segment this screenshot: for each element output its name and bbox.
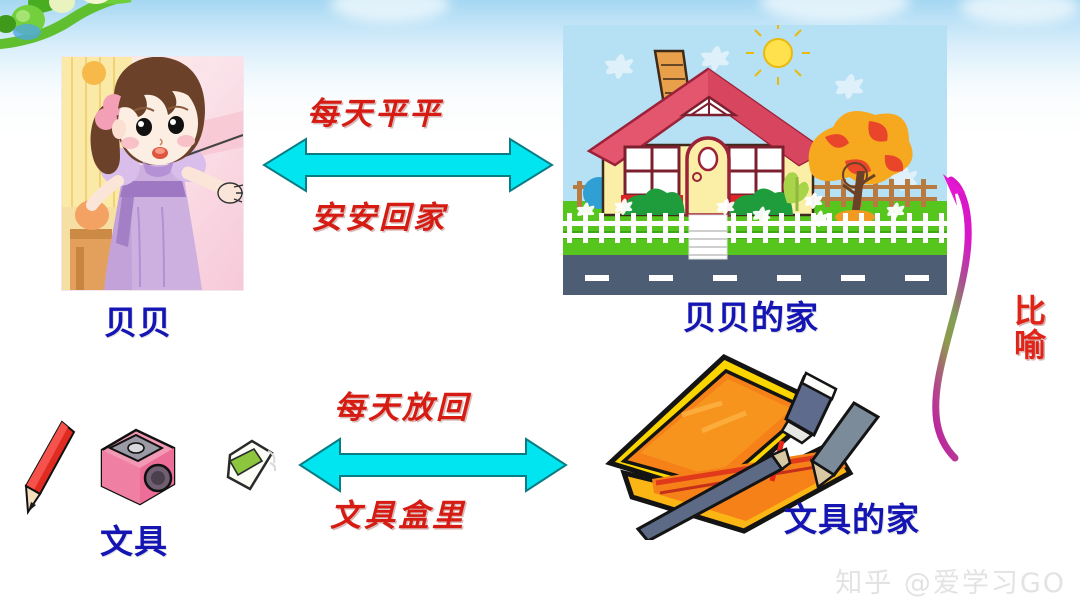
label-metaphor-char-1: 比	[1010, 295, 1050, 329]
label-beibei: 贝贝	[104, 306, 172, 339]
label-beibei-home: 贝贝的家	[683, 301, 819, 334]
label-metaphor: 比 喻	[1010, 295, 1050, 362]
pencil-sharpener-icon	[96, 424, 178, 510]
arrow-bottom-below-text: 文具盒里	[330, 501, 466, 532]
girl-pointing-illustration	[62, 57, 243, 290]
leaf-decoration-icon	[0, 0, 150, 50]
eraser-icon	[222, 437, 278, 495]
label-metaphor-char-2: 喻	[1010, 329, 1050, 363]
cloud-icon	[760, 0, 910, 22]
arrow-top-below-text: 安安回家	[311, 203, 447, 234]
slide-canvas: 贝贝 贝贝的家 文具 文具的家 每天平平 安安回家 每天放回 文具盒里 比 喻 …	[0, 0, 1080, 608]
double-headed-arrow-icon	[262, 133, 554, 197]
pencil-icon	[18, 420, 80, 515]
cloud-icon	[960, 0, 1080, 24]
arrow-top-above-text: 每天平平	[307, 99, 443, 130]
label-stationery-home: 文具的家	[784, 503, 920, 536]
arrow-bottom-above-text: 每天放回	[334, 393, 470, 424]
watermark: 知乎 @爱学习GO	[835, 561, 1066, 600]
house-with-yard-illustration	[563, 25, 947, 295]
label-stationery: 文具	[100, 525, 168, 558]
cloud-icon	[330, 0, 450, 22]
double-headed-arrow-icon	[298, 433, 568, 497]
